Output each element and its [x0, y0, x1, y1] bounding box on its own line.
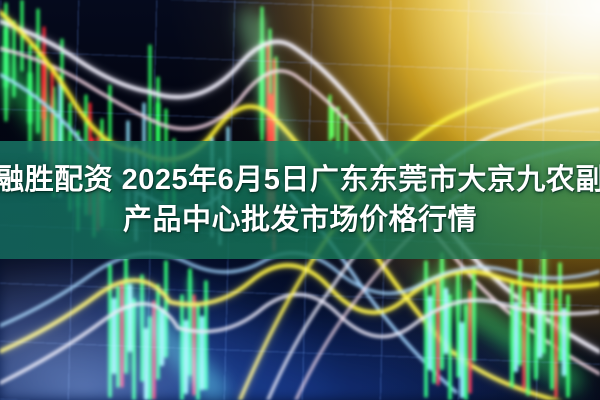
page-title: 融胜配资 2025年6月5日广东东莞市大京九农副 产品中心批发市场价格行情	[0, 141, 600, 259]
title-line-2: 产品中心批发市场价格行情	[123, 204, 477, 236]
title-line-1: 融胜配资 2025年6月5日广东东莞市大京九农副	[0, 164, 600, 196]
banner-image: 融胜配资 2025年6月5日广东东莞市大京九农副 产品中心批发市场价格行情	[0, 0, 600, 400]
